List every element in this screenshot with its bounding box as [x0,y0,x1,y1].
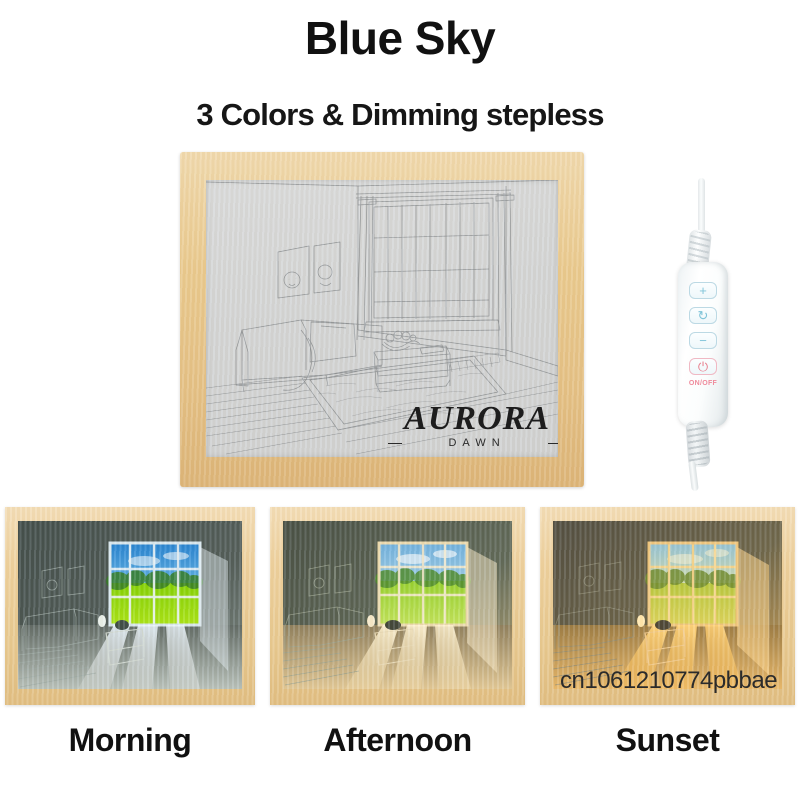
power-icon[interactable]: ⏻ [689,358,717,375]
scene-afternoon [283,521,512,689]
caption-sunset: Sunset [540,722,795,759]
caption-afternoon: Afternoon [270,722,525,759]
inline-dimmer-controller: + ↻ − ⏻ ON/OFF [660,178,740,488]
page-title: Blue Sky [0,14,800,62]
logo-tagline: DAWN [404,437,550,449]
page-subtitle: 3 Colors & Dimming stepless [0,98,800,132]
power-button-label: ON/OFF [678,380,728,387]
thumbnail-morning[interactable] [5,507,255,705]
hero-light-panel: AURORA DAWN [206,180,558,457]
remote-body: + ↻ − ⏻ ON/OFF [678,262,728,427]
minus-icon[interactable]: − [689,332,717,349]
color-cycle-icon[interactable]: ↻ [689,307,717,324]
scene-morning [18,521,242,689]
scene-sunset [553,521,782,689]
caption-morning: Morning [5,722,255,759]
aurora-dawn-logo: AURORA DAWN [404,403,550,449]
plus-icon[interactable]: + [689,282,717,299]
hero-photo-frame: AURORA DAWN [180,152,584,487]
thumbnail-afternoon[interactable] [270,507,525,705]
logo-wordmark: AURORA [404,403,550,435]
watermark-text: cn1061210774pbbae [560,667,777,695]
